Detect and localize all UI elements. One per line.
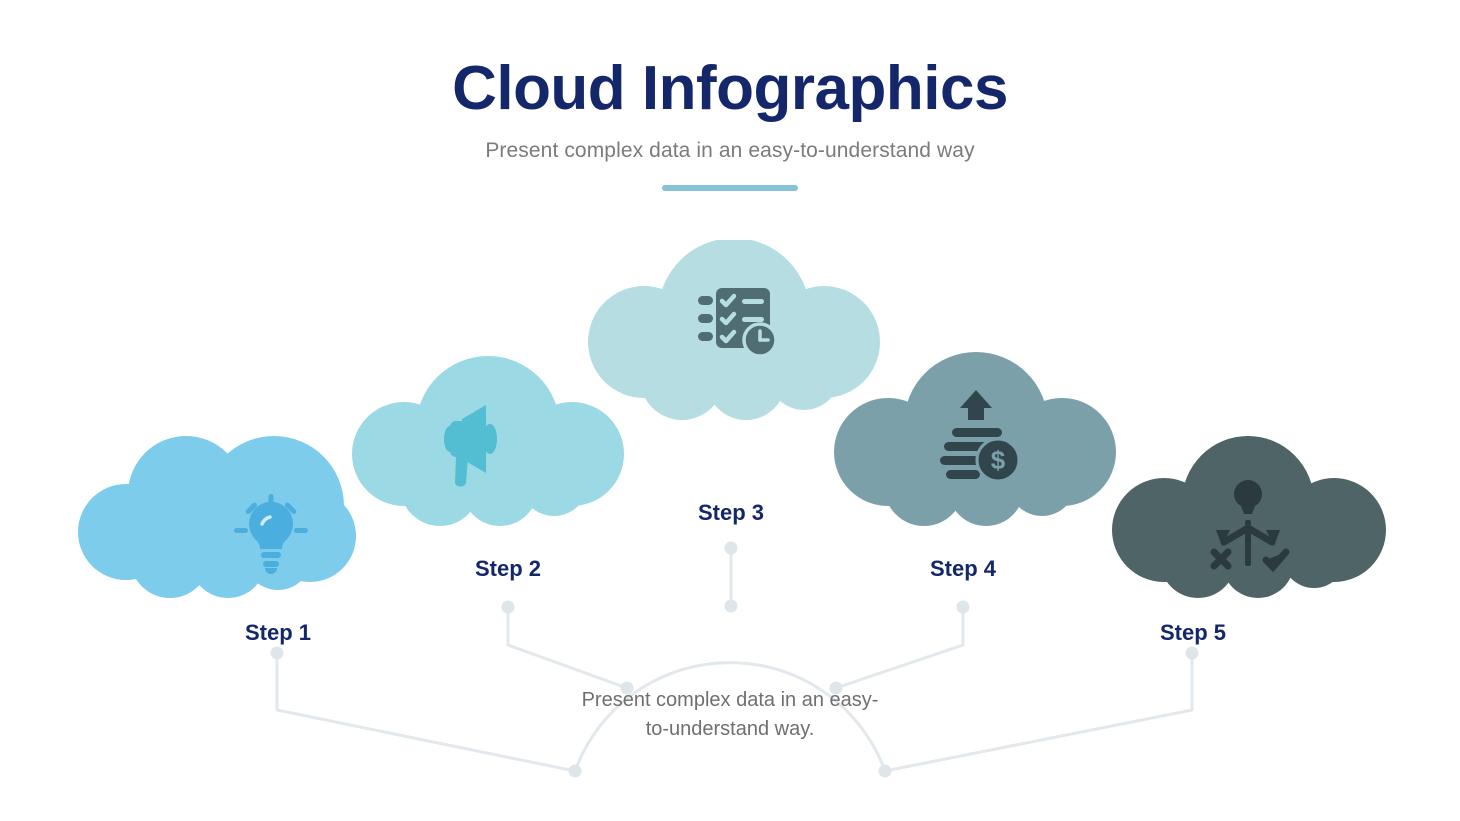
connector-step-5 bbox=[885, 653, 1192, 771]
cloud-step-4[interactable]: $ bbox=[830, 352, 1116, 534]
connector-step-2 bbox=[508, 607, 627, 688]
node-arc-bottom-right bbox=[879, 765, 892, 778]
svg-text:$: $ bbox=[991, 445, 1006, 475]
node-step-2 bbox=[502, 601, 515, 614]
step-label-2: Step 2 bbox=[418, 556, 598, 582]
slide-canvas: Cloud Infographics Present complex data … bbox=[0, 0, 1460, 821]
connector-step-1 bbox=[277, 653, 575, 771]
cloud-shape-step-1 bbox=[78, 436, 356, 598]
cloud-infographic-diagram: Step 1 bbox=[0, 0, 1460, 821]
cloud-step-5[interactable] bbox=[1108, 436, 1388, 606]
center-caption: Present complex data in an easy-to-under… bbox=[580, 686, 880, 744]
step-label-4: Step 4 bbox=[873, 556, 1053, 582]
node-step-5 bbox=[1186, 647, 1199, 660]
node-step-1 bbox=[271, 647, 284, 660]
connector-step-4 bbox=[836, 607, 963, 688]
cloud-shape-step-5 bbox=[1112, 436, 1386, 598]
node-arc-top bbox=[725, 600, 738, 613]
step-label-1: Step 1 bbox=[188, 620, 368, 646]
node-arc-bottom-left bbox=[569, 765, 582, 778]
node-step-3 bbox=[725, 542, 738, 555]
node-step-4 bbox=[957, 601, 970, 614]
step-label-5: Step 5 bbox=[1103, 620, 1283, 646]
step-label-3: Step 3 bbox=[641, 500, 821, 526]
cloud-shape-step-4 bbox=[834, 352, 1116, 526]
cloud-step-1[interactable] bbox=[78, 436, 358, 606]
